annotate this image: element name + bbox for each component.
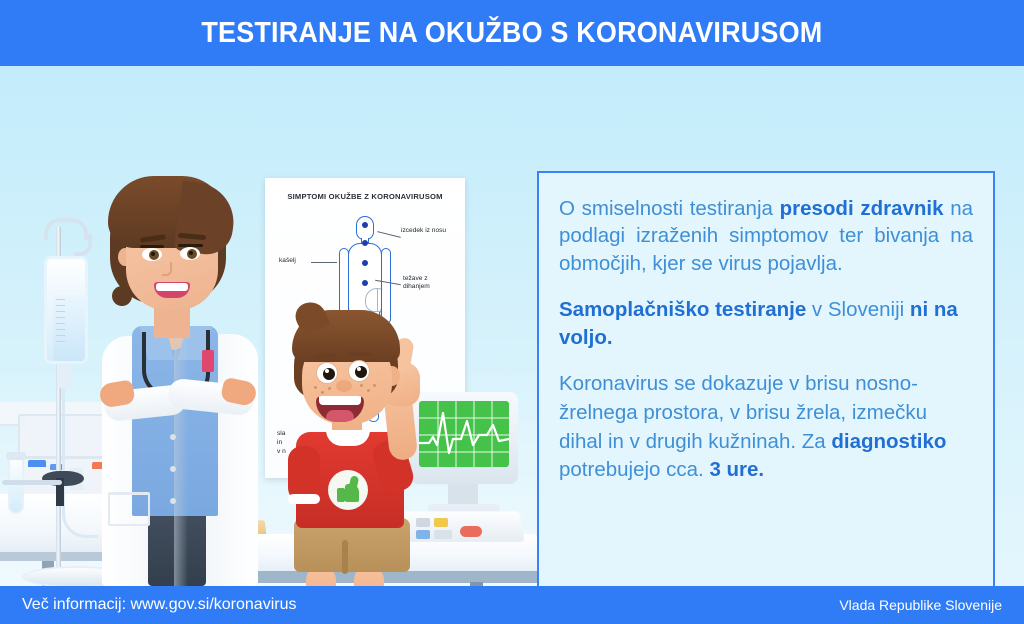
- thumb-glyph: [337, 478, 359, 502]
- body-text: v Sloveniji: [806, 298, 910, 321]
- footer-bar: Več informacij: www.gov.si/koronavirus V…: [0, 586, 1024, 624]
- body-head: [356, 216, 374, 240]
- boy-freckle: [314, 386, 317, 389]
- boy-freckle: [321, 391, 324, 394]
- paragraph-diagnostics: Koronavirus se dokazuje v brisu nosno-žr…: [559, 370, 973, 485]
- footer-publisher: Vlada Republike Slovenije: [839, 597, 1002, 613]
- monitor-power-button: [460, 526, 482, 537]
- symptom-dot-cough: [362, 260, 368, 266]
- iv-scale-marks: [56, 299, 66, 359]
- boy-eye-left: [316, 362, 338, 384]
- emphasis-text: Samoplačniško testiranje: [559, 298, 806, 321]
- page-title: TESTIRANJE NA OKUŽBO S KORONAVIRUSOM: [201, 17, 822, 50]
- boy-freckle: [367, 389, 370, 392]
- iv-drip-chamber: [58, 364, 72, 390]
- doctor-mouth: [154, 282, 190, 298]
- doctor-hair-bun: [112, 286, 132, 306]
- test-tube-icon: [8, 458, 24, 514]
- emphasis-text: presodi zdravnik: [780, 197, 944, 220]
- symptom-label-breathing: težave z dihanjem: [403, 275, 455, 291]
- symptom-label-nose: izcedek iz nosu: [401, 227, 446, 235]
- symptom-poster-title: SIMPTOMI OKUŽBE Z KORONAVIRUSOM: [265, 192, 465, 201]
- doctor-eyelash-right: [178, 244, 203, 247]
- boy-freckle: [373, 384, 376, 387]
- doctor-character: [82, 174, 272, 586]
- doctor-eyelash-left: [140, 245, 164, 248]
- body-torso: [348, 243, 382, 315]
- illustration-stage: SIMPTOMI OKUŽBE Z KORONAVIRUSOM: [0, 66, 1024, 586]
- doctor-teeth: [156, 283, 188, 291]
- body-arm-right: [381, 248, 391, 324]
- emphasis-text: 3 ure.: [709, 458, 764, 481]
- leader-line-cough: [311, 262, 337, 263]
- body-text: potrebujejo cca.: [559, 458, 709, 481]
- coat-pocket: [108, 492, 150, 526]
- symptom-label-cough: kašelj: [279, 257, 296, 265]
- body-text: O smiselnosti testiranja: [559, 197, 780, 220]
- boy-character: [278, 314, 448, 586]
- thumbs-up-logo-icon: [328, 470, 368, 510]
- header-bar: TESTIRANJE NA OKUŽBO S KORONAVIRUSOM: [0, 0, 1024, 66]
- paragraph-self-paid-testing: Samoplačniško testiranje v Sloveniji ni …: [559, 296, 973, 351]
- boy-nose: [336, 380, 352, 392]
- doctor-eye-right: [180, 247, 200, 260]
- monitor-stand: [448, 484, 478, 506]
- emphasis-text: diagnostiko: [831, 430, 946, 453]
- boy-eye-right: [348, 360, 370, 382]
- coat-buttons: [170, 434, 176, 530]
- footer-more-info[interactable]: Več informacij: www.gov.si/koronavirus: [22, 596, 296, 614]
- test-tube-lid: [6, 452, 26, 460]
- boy-freckle: [328, 387, 331, 390]
- boy-freckle: [360, 384, 363, 387]
- paragraph-testing-decision: O smiselnosti testiranja presodi zdravni…: [559, 195, 973, 277]
- doctor-badge: [202, 350, 214, 372]
- symptom-dot-throat: [362, 240, 368, 246]
- boy-tongue: [326, 410, 354, 422]
- boy-cuff-left: [288, 494, 320, 504]
- info-panel: O smiselnosti testiranja presodi zdravni…: [537, 171, 995, 586]
- infographic-poster: TESTIRANJE NA OKUŽBO S KORONAVIRUSOM: [0, 0, 1024, 624]
- symptom-dot-nose: [362, 222, 368, 228]
- doctor-nose: [162, 262, 172, 276]
- doctor-eye-left: [142, 248, 162, 261]
- tube-rack-bar: [2, 480, 62, 485]
- boy-teeth: [319, 396, 361, 405]
- symptom-dot-breathing: [362, 280, 368, 286]
- shorts-seam: [342, 540, 348, 574]
